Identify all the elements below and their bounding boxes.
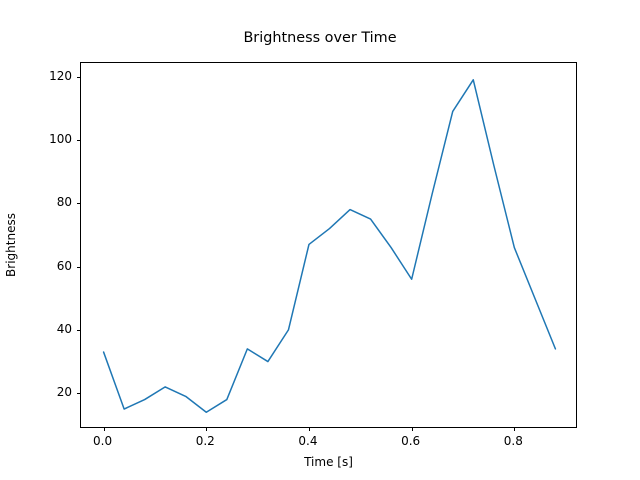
y-tick-mark	[77, 140, 81, 141]
y-tick-label: 80	[57, 195, 72, 209]
x-tick-mark	[309, 427, 310, 431]
brightness-line	[104, 80, 556, 412]
x-axis-label: Time [s]	[80, 455, 577, 469]
x-tick-mark	[206, 427, 207, 431]
x-tick-label: 0.2	[196, 434, 215, 448]
y-tick-label: 20	[57, 385, 72, 399]
x-tick-mark	[104, 427, 105, 431]
y-tick-label: 40	[57, 322, 72, 336]
y-axis-tick-labels: 20406080100120	[28, 62, 72, 428]
line-series-svg	[81, 63, 578, 429]
y-tick-mark	[77, 267, 81, 268]
y-tick-mark	[77, 393, 81, 394]
x-tick-label: 0.8	[504, 434, 523, 448]
plot-axes	[80, 62, 577, 428]
x-tick-mark	[514, 427, 515, 431]
x-tick-label: 0.6	[401, 434, 420, 448]
figure-canvas: Brightness over Time 20406080100120 0.00…	[0, 0, 640, 480]
y-tick-mark	[77, 203, 81, 204]
y-tick-mark	[77, 330, 81, 331]
y-tick-mark	[77, 77, 81, 78]
y-tick-label: 60	[57, 259, 72, 273]
x-tick-mark	[412, 427, 413, 431]
y-axis-label: Brightness	[0, 62, 22, 428]
x-axis-tick-labels: 0.00.20.40.60.8	[80, 434, 577, 452]
x-tick-label: 0.0	[93, 434, 112, 448]
chart-title: Brightness over Time	[0, 30, 640, 46]
y-tick-label: 100	[49, 132, 72, 146]
x-tick-label: 0.4	[298, 434, 317, 448]
y-tick-label: 120	[49, 69, 72, 83]
